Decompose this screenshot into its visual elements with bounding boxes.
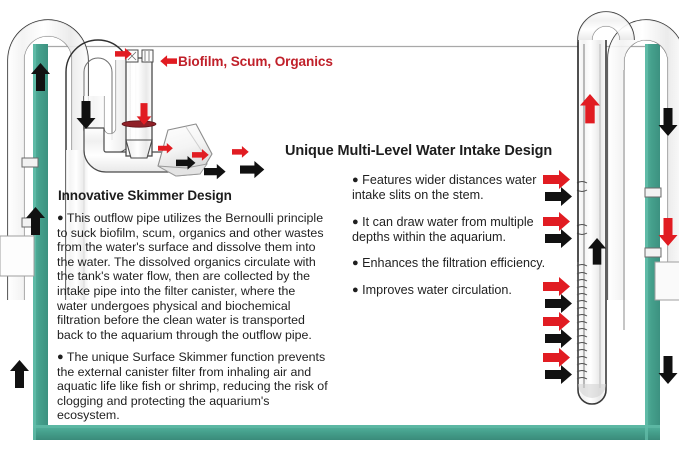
arrow-up-black-left-bottom bbox=[10, 360, 29, 388]
bullet-item-multiple-depths: ● It can draw water from multiple depths… bbox=[352, 215, 544, 245]
bullet-glyph: ● bbox=[57, 212, 64, 224]
headline-innovative-skimmer-design: Innovative Skimmer Design bbox=[58, 188, 232, 203]
bullet-glyph: ● bbox=[352, 174, 359, 186]
bullet-text: Features wider distances water intake sl… bbox=[352, 173, 536, 202]
paragraph-surface-skimmer-function: ● The unique Surface Skimmer function pr… bbox=[57, 350, 329, 423]
bullet-text: It can draw water from multiple depths w… bbox=[352, 215, 534, 244]
paragraph-skimmer-bernoulli: ● This outflow pipe utilizes the Bernoul… bbox=[57, 211, 327, 342]
hose-clamp-upper bbox=[645, 188, 661, 197]
skimmer-seal-ring bbox=[122, 121, 156, 127]
bullet-item-filtration-efficiency: ● Enhances the filtration efficiency. bbox=[352, 256, 552, 271]
bullet-text: Enhances the filtration efficiency. bbox=[362, 256, 545, 270]
paragraph-text: The unique Surface Skimmer function prev… bbox=[57, 350, 328, 422]
headline-unique-multi-level-water-intake-design: Unique Multi-Level Water Intake Design bbox=[285, 143, 552, 159]
bullet-glyph: ● bbox=[352, 216, 359, 228]
bullet-text: Improves water circulation. bbox=[362, 283, 512, 297]
bullet-item-water-circulation: ● Improves water circulation. bbox=[352, 283, 552, 298]
infographic-canvas: Biofilm, Scum, Organics Innovative Skimm… bbox=[0, 0, 679, 454]
paragraph-text: This outflow pipe utilizes the Bernoulli… bbox=[57, 211, 324, 342]
return-outlet-box bbox=[655, 262, 679, 300]
caption-biofilm-scum-organics: Biofilm, Scum, Organics bbox=[178, 54, 333, 69]
hose-clamp-lower bbox=[645, 248, 661, 257]
bullet-glyph: ● bbox=[352, 257, 359, 269]
bullet-glyph: ● bbox=[57, 351, 64, 363]
arrow-down-black-return-bottom bbox=[659, 356, 678, 384]
bullet-glyph: ● bbox=[352, 284, 359, 296]
bullet-item-intake-slits: ● Features wider distances water intake … bbox=[352, 173, 542, 203]
